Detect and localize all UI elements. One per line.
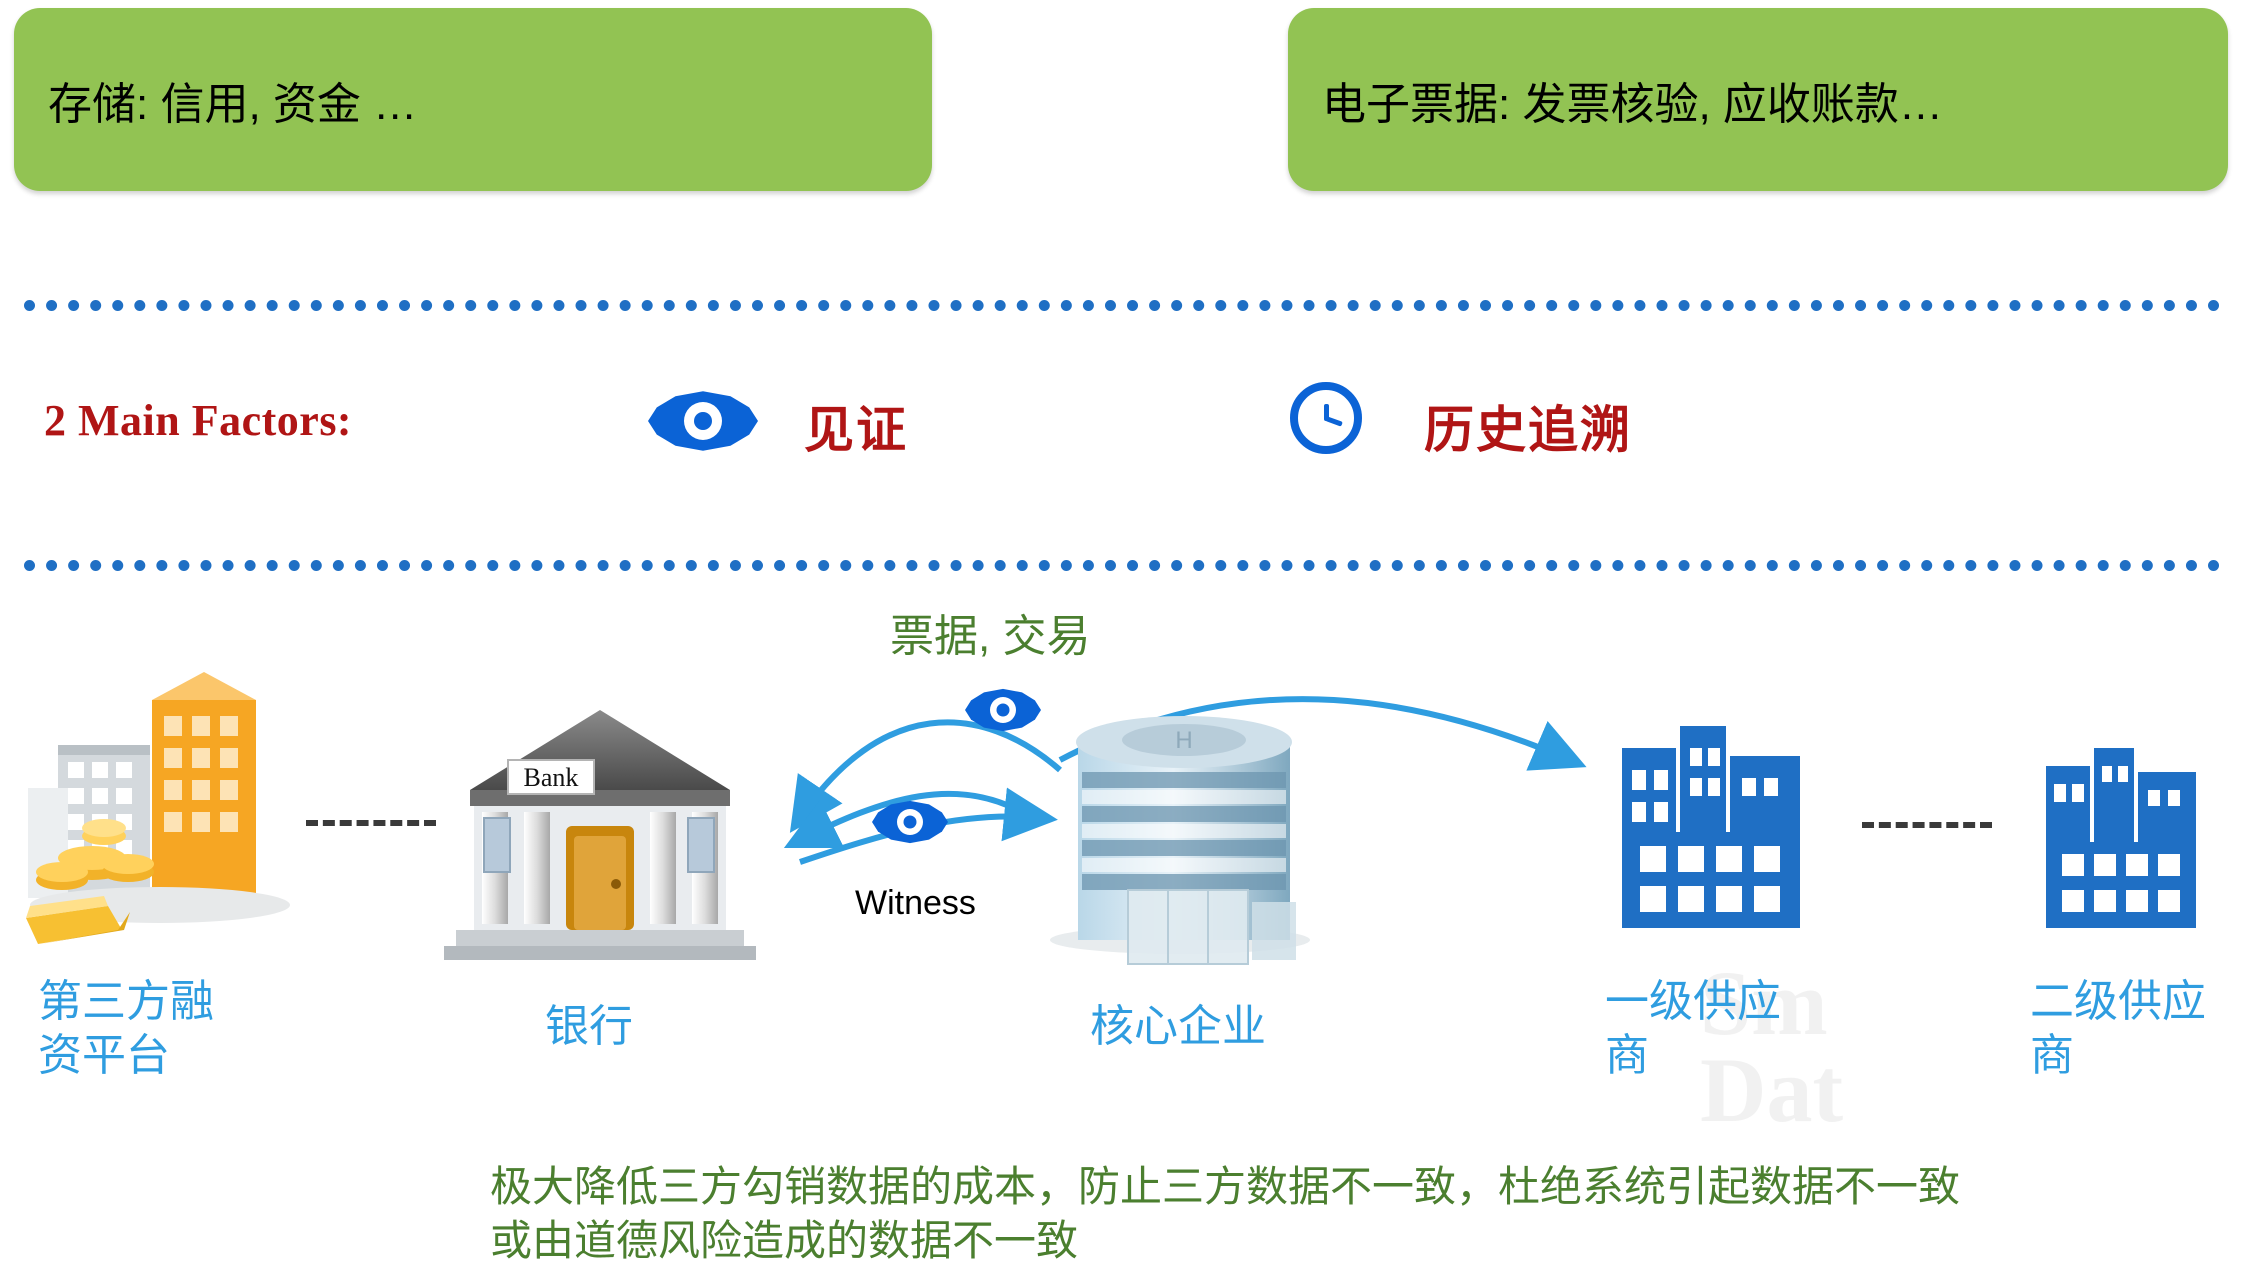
factor-witness-text: 见证 [804,390,908,462]
node-label-supplier2-line2: 商 [2030,1029,2244,1083]
node-label-supplier2: 二级供应 商 [2030,975,2244,1082]
dashed-connector-platform-bank [306,820,436,826]
bottom-note: 极大降低三方勾销数据的成本，防止三方数据不一致，杜绝系统引起数据不一致 或由道德… [490,1160,2244,1268]
storage-callout-box: 存储: 信用, 资金 … [14,8,932,191]
supplier1-icon [1622,726,1800,928]
dashed-connector-supplier1-supplier2 [1862,822,1992,828]
node-label-platform: 第三方融 资平台 [38,975,268,1082]
platform-icon [26,672,290,944]
ebill-callout-text: 电子票据: 发票核验, 应收账款… [1322,68,1943,132]
bank-sign-text: Bank [524,763,579,792]
node-label-platform-line1: 第三方融 [38,975,268,1029]
witness-label: Witness [855,884,976,923]
clock-icon [1290,382,1362,454]
main-factors-label: 2 Main Factors: [44,395,352,446]
factor-history-text: 历史追溯 [1424,390,1632,462]
core-enterprise-icon: H [1050,716,1310,964]
eye-icon-flow-lower [872,800,948,844]
bank-icon: Bank [444,710,756,960]
svg-text:H: H [1175,727,1192,754]
storage-callout-text: 存储: 信用, 资金 … [48,68,417,132]
bottom-note-line2: 或由道德风险造成的数据不一致 [490,1214,2244,1268]
dotted-divider-top [24,300,2220,311]
eye-icon [648,390,758,452]
node-label-core: 核心企业 [1090,1000,1266,1054]
dotted-divider-bottom [24,560,2220,571]
flow-caption-label: 票据, 交易 [890,600,1090,664]
supplier2-icon [2046,748,2196,928]
node-label-platform-line2: 资平台 [38,1029,268,1083]
node-label-bank: 银行 [545,1000,633,1054]
bottom-note-line1: 极大降低三方勾销数据的成本，防止三方数据不一致，杜绝系统引起数据不一致 [490,1160,2244,1214]
node-label-supplier1-line1: 一级供应 [1605,975,1825,1029]
diagram-graphics-layer: Bank H [0,0,2244,1282]
node-label-supplier2-line1: 二级供应 [2030,975,2244,1029]
eye-icon-flow-upper [965,688,1041,732]
ebill-callout-box: 电子票据: 发票核验, 应收账款… [1288,8,2228,191]
node-label-supplier1: 一级供应 商 [1605,975,1825,1082]
node-label-supplier1-line2: 商 [1605,1029,1825,1083]
